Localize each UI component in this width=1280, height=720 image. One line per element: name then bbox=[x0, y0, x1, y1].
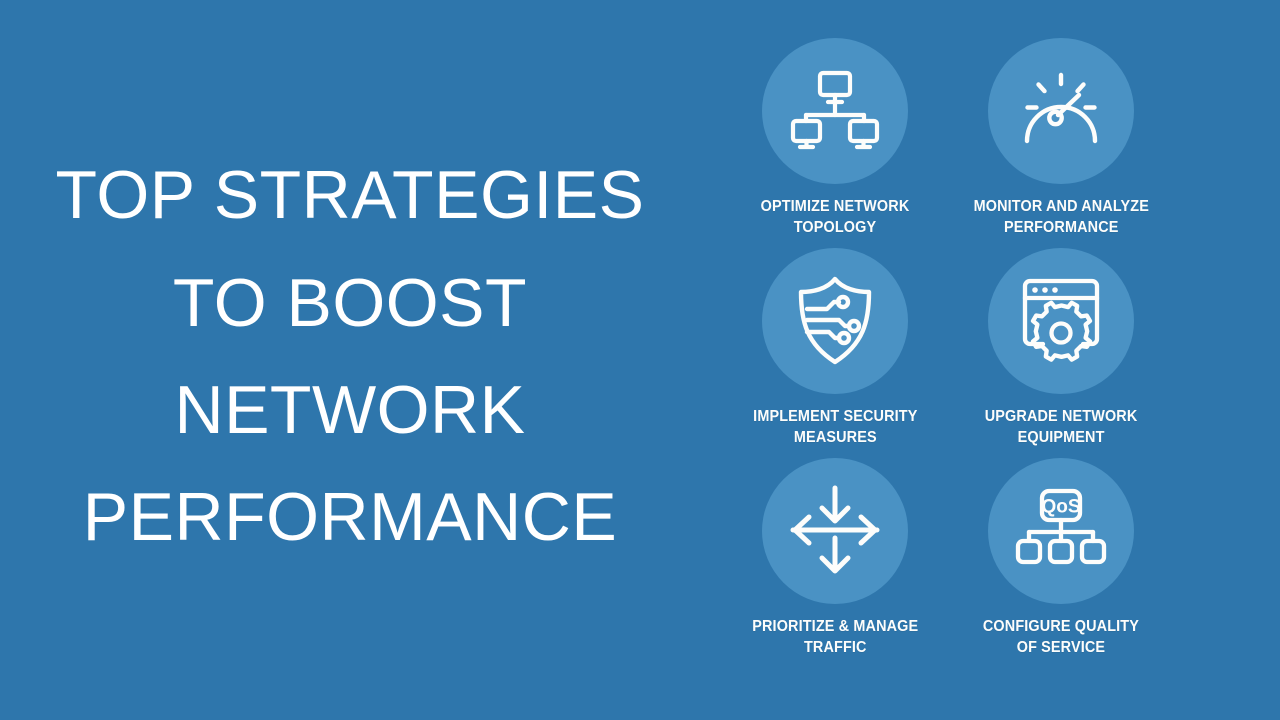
page-title: TOP STRATEGIES TO BOOST NETWORK PERFORMA… bbox=[50, 142, 650, 572]
slide-canvas: TOP STRATEGIES TO BOOST NETWORK PERFORMA… bbox=[0, 0, 1280, 720]
network-topology-icon bbox=[789, 69, 881, 153]
badge-circle bbox=[988, 38, 1134, 184]
badge-circle bbox=[762, 248, 908, 394]
badge-circle bbox=[988, 248, 1134, 394]
strategy-label: UPGRADE NETWORK EQUIPMENT bbox=[985, 407, 1138, 448]
strategy-grid-pane: OPTIMIZE NETWORK TOPOLOGY bbox=[700, 0, 1280, 720]
qos-icon-label: QoS bbox=[1041, 497, 1080, 518]
strategy-card-monitor-and-analyze-performance[interactable]: MONITOR AND ANALYZE PERFORMANCE bbox=[948, 38, 1174, 248]
strategy-label: CONFIGURE QUALITY OF SERVICE bbox=[983, 617, 1139, 658]
title-pane: TOP STRATEGIES TO BOOST NETWORK PERFORMA… bbox=[0, 0, 700, 720]
strategy-card-configure-quality-of-service[interactable]: QoS CONFIGURE QUALITY OF SERVICE bbox=[948, 458, 1174, 668]
strategy-card-prioritize-and-manage-traffic[interactable]: PRIORITIZE & MANAGE TRAFFIC bbox=[722, 458, 948, 668]
strategy-card-optimize-network-topology[interactable]: OPTIMIZE NETWORK TOPOLOGY bbox=[722, 38, 948, 248]
strategy-grid: OPTIMIZE NETWORK TOPOLOGY bbox=[722, 38, 1280, 668]
badge-circle: QoS bbox=[988, 458, 1134, 604]
four-way-arrows-icon bbox=[788, 485, 882, 577]
shield-circuit-icon bbox=[791, 275, 879, 367]
strategy-card-implement-security-measures[interactable]: IMPLEMENT SECURITY MEASURES bbox=[722, 248, 948, 458]
qos-hierarchy-icon: QoS bbox=[1015, 488, 1107, 574]
strategy-card-upgrade-network-equipment[interactable]: UPGRADE NETWORK EQUIPMENT bbox=[948, 248, 1174, 458]
strategy-label: PRIORITIZE & MANAGE TRAFFIC bbox=[752, 617, 918, 658]
strategy-label: IMPLEMENT SECURITY MEASURES bbox=[753, 407, 917, 448]
badge-circle bbox=[762, 38, 908, 184]
speedometer-gauge-icon bbox=[1015, 69, 1107, 153]
strategy-label: MONITOR AND ANALYZE PERFORMANCE bbox=[973, 197, 1148, 238]
strategy-label: OPTIMIZE NETWORK TOPOLOGY bbox=[761, 197, 910, 238]
browser-gear-icon bbox=[1015, 277, 1107, 365]
badge-circle bbox=[762, 458, 908, 604]
